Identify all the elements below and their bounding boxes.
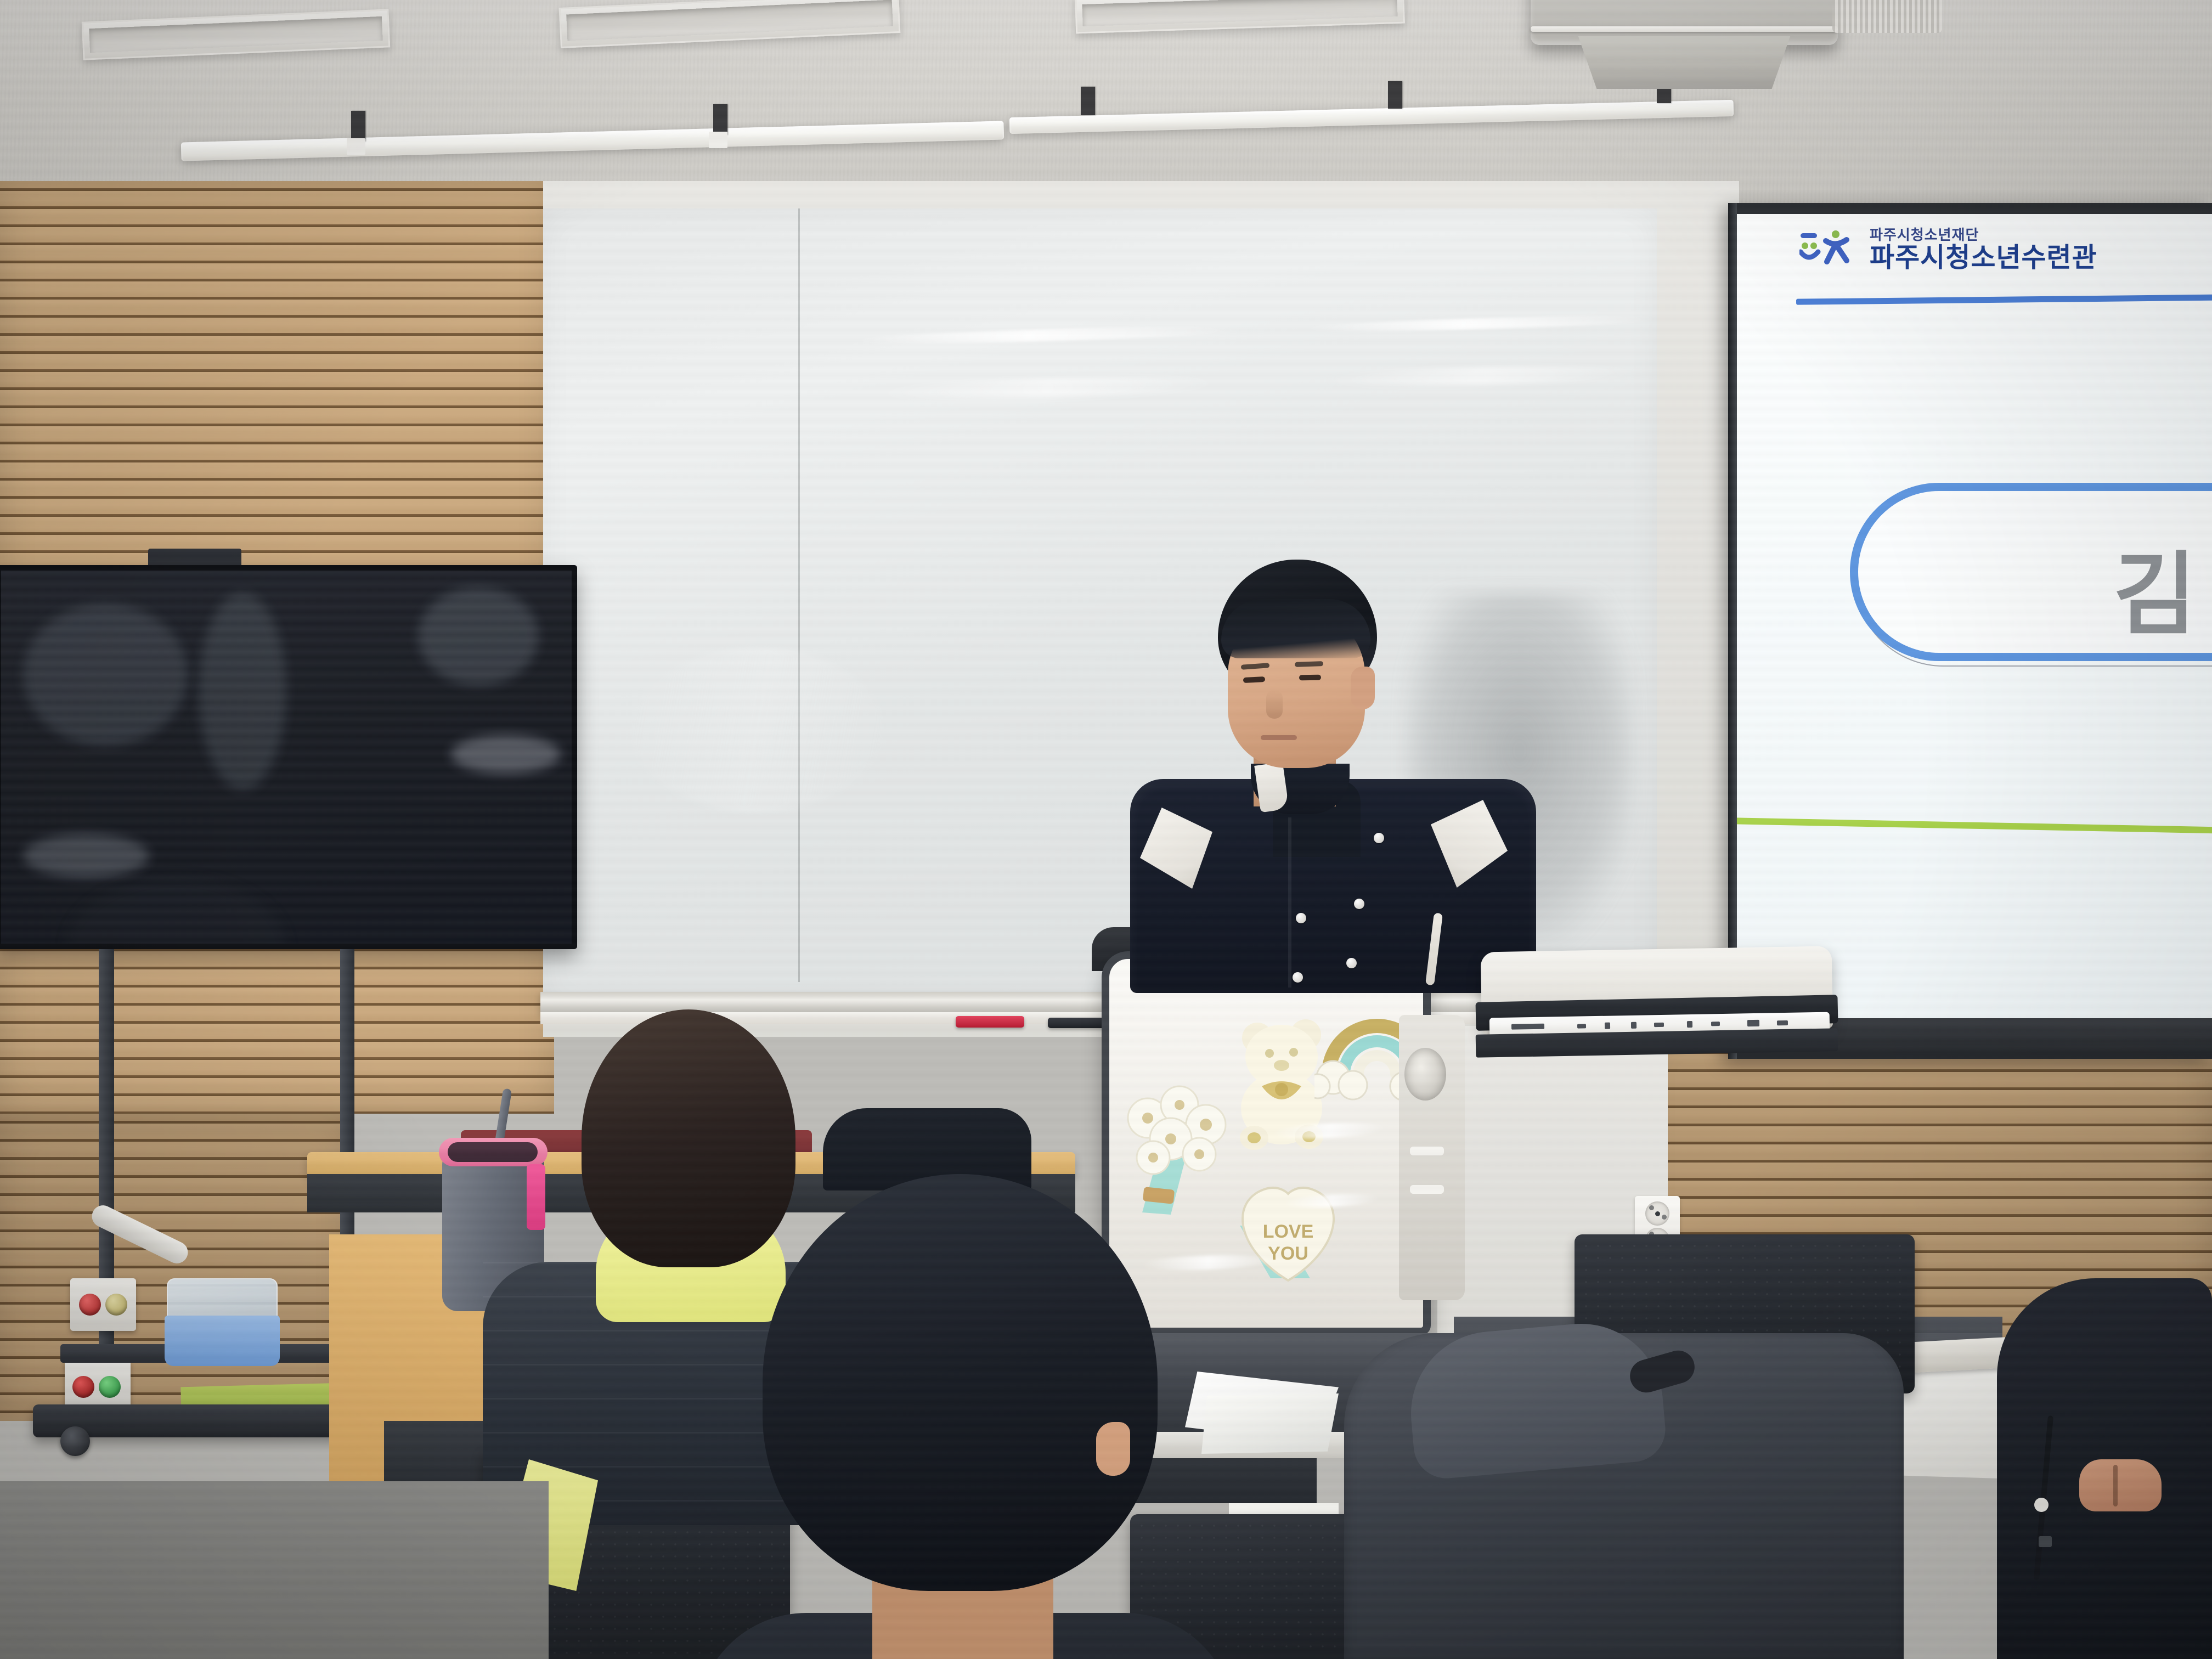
whiteboard-seam — [798, 208, 800, 982]
coat-hood — [1404, 1317, 1668, 1481]
student-ear — [1096, 1422, 1130, 1476]
presenter-eyebrow — [1295, 661, 1323, 667]
blue-storage-bin[interactable] — [165, 1278, 280, 1366]
jacket-placket — [1288, 817, 1291, 988]
flat-panel-tv[interactable] — [0, 565, 577, 949]
cable-connector — [2039, 1536, 2052, 1547]
projection-screen: 파주시청소년재단 파주시청소년수련관 김 — [1728, 203, 2212, 1059]
light-bracket — [709, 132, 727, 148]
slide-header: 파주시청소년재단 파주시청소년수련관 — [1735, 214, 2212, 286]
light-bracket — [347, 138, 365, 155]
jacket-snap-button — [1354, 899, 1364, 909]
jacket-snap-button — [1346, 958, 1357, 968]
smiley-person-logo-icon — [1799, 229, 1859, 272]
student-hair — [763, 1174, 1158, 1591]
presenter-eye — [1243, 676, 1265, 683]
person-right-edge — [1997, 1278, 2212, 1659]
student-foreground — [763, 1174, 1158, 1659]
light-bracket — [351, 111, 365, 142]
tumbler-charm-tag — [527, 1164, 545, 1230]
light-bracket — [1388, 81, 1402, 109]
green-button[interactable] — [99, 1376, 121, 1398]
slide-org-block: 파주시청소년재단 파주시청소년수련관 — [1870, 227, 2097, 274]
red-button[interactable] — [79, 1294, 101, 1316]
loose-papers[interactable] — [1201, 1393, 1339, 1454]
heart-sticker-text: YOU — [1268, 1243, 1308, 1264]
slide-green-accent-rule — [1735, 817, 2212, 834]
screen-left-edge — [1728, 203, 1737, 1059]
slide-header-rule — [1796, 294, 2212, 304]
slide-headline-text: 김 — [2113, 521, 2199, 652]
slide-sub-org: 파주시청소년재단 — [1870, 227, 2097, 243]
lectern-slot — [1410, 1185, 1444, 1194]
wood-slat-acoustic-wall — [0, 1114, 351, 1421]
red-marker[interactable] — [956, 1016, 1024, 1028]
jacket-snap-button — [1374, 833, 1384, 843]
hand — [2079, 1459, 2162, 1511]
carpet-floor — [0, 1481, 549, 1659]
red-button[interactable] — [72, 1376, 94, 1398]
presenter-mouth — [1261, 735, 1297, 740]
projector-vent-grill — [1832, 0, 1942, 33]
jacket-snap-button — [1296, 913, 1306, 923]
projector-body — [1569, 36, 1799, 89]
slide-content: 파주시청소년재단 파주시청소년수련관 김 — [1735, 214, 2212, 1019]
whiteboard-glare — [631, 647, 883, 812]
tumbler-lid — [448, 1142, 538, 1162]
machine-control-panel[interactable] — [70, 1278, 136, 1331]
light-bracket — [1081, 87, 1095, 115]
presenter-eye — [1299, 675, 1321, 681]
light-bracket — [713, 104, 727, 135]
presenter-speaker — [1114, 560, 1553, 988]
jacket-snap-button — [1293, 972, 1303, 983]
lectern-knob[interactable] — [1404, 1048, 1446, 1101]
love-you-heart-sticker: LOVE YOU — [1214, 1161, 1362, 1293]
presenter-hair-fringe — [1221, 599, 1370, 658]
photo-scene: 파주시청소년재단 파주시청소년수련관 김 — [0, 0, 2212, 1659]
lectern-slot — [1410, 1147, 1444, 1155]
slide-org-name: 파주시청소년수련관 — [1870, 242, 2097, 273]
cart-caster-wheel — [60, 1426, 90, 1456]
amber-button[interactable] — [105, 1294, 127, 1316]
cable-clip — [2034, 1498, 2049, 1512]
heart-sticker-text: LOVE — [1263, 1221, 1314, 1242]
draped-puffer-coat[interactable] — [1344, 1333, 1904, 1659]
presenter-ear — [1351, 667, 1375, 709]
presenter-nose — [1266, 690, 1283, 719]
